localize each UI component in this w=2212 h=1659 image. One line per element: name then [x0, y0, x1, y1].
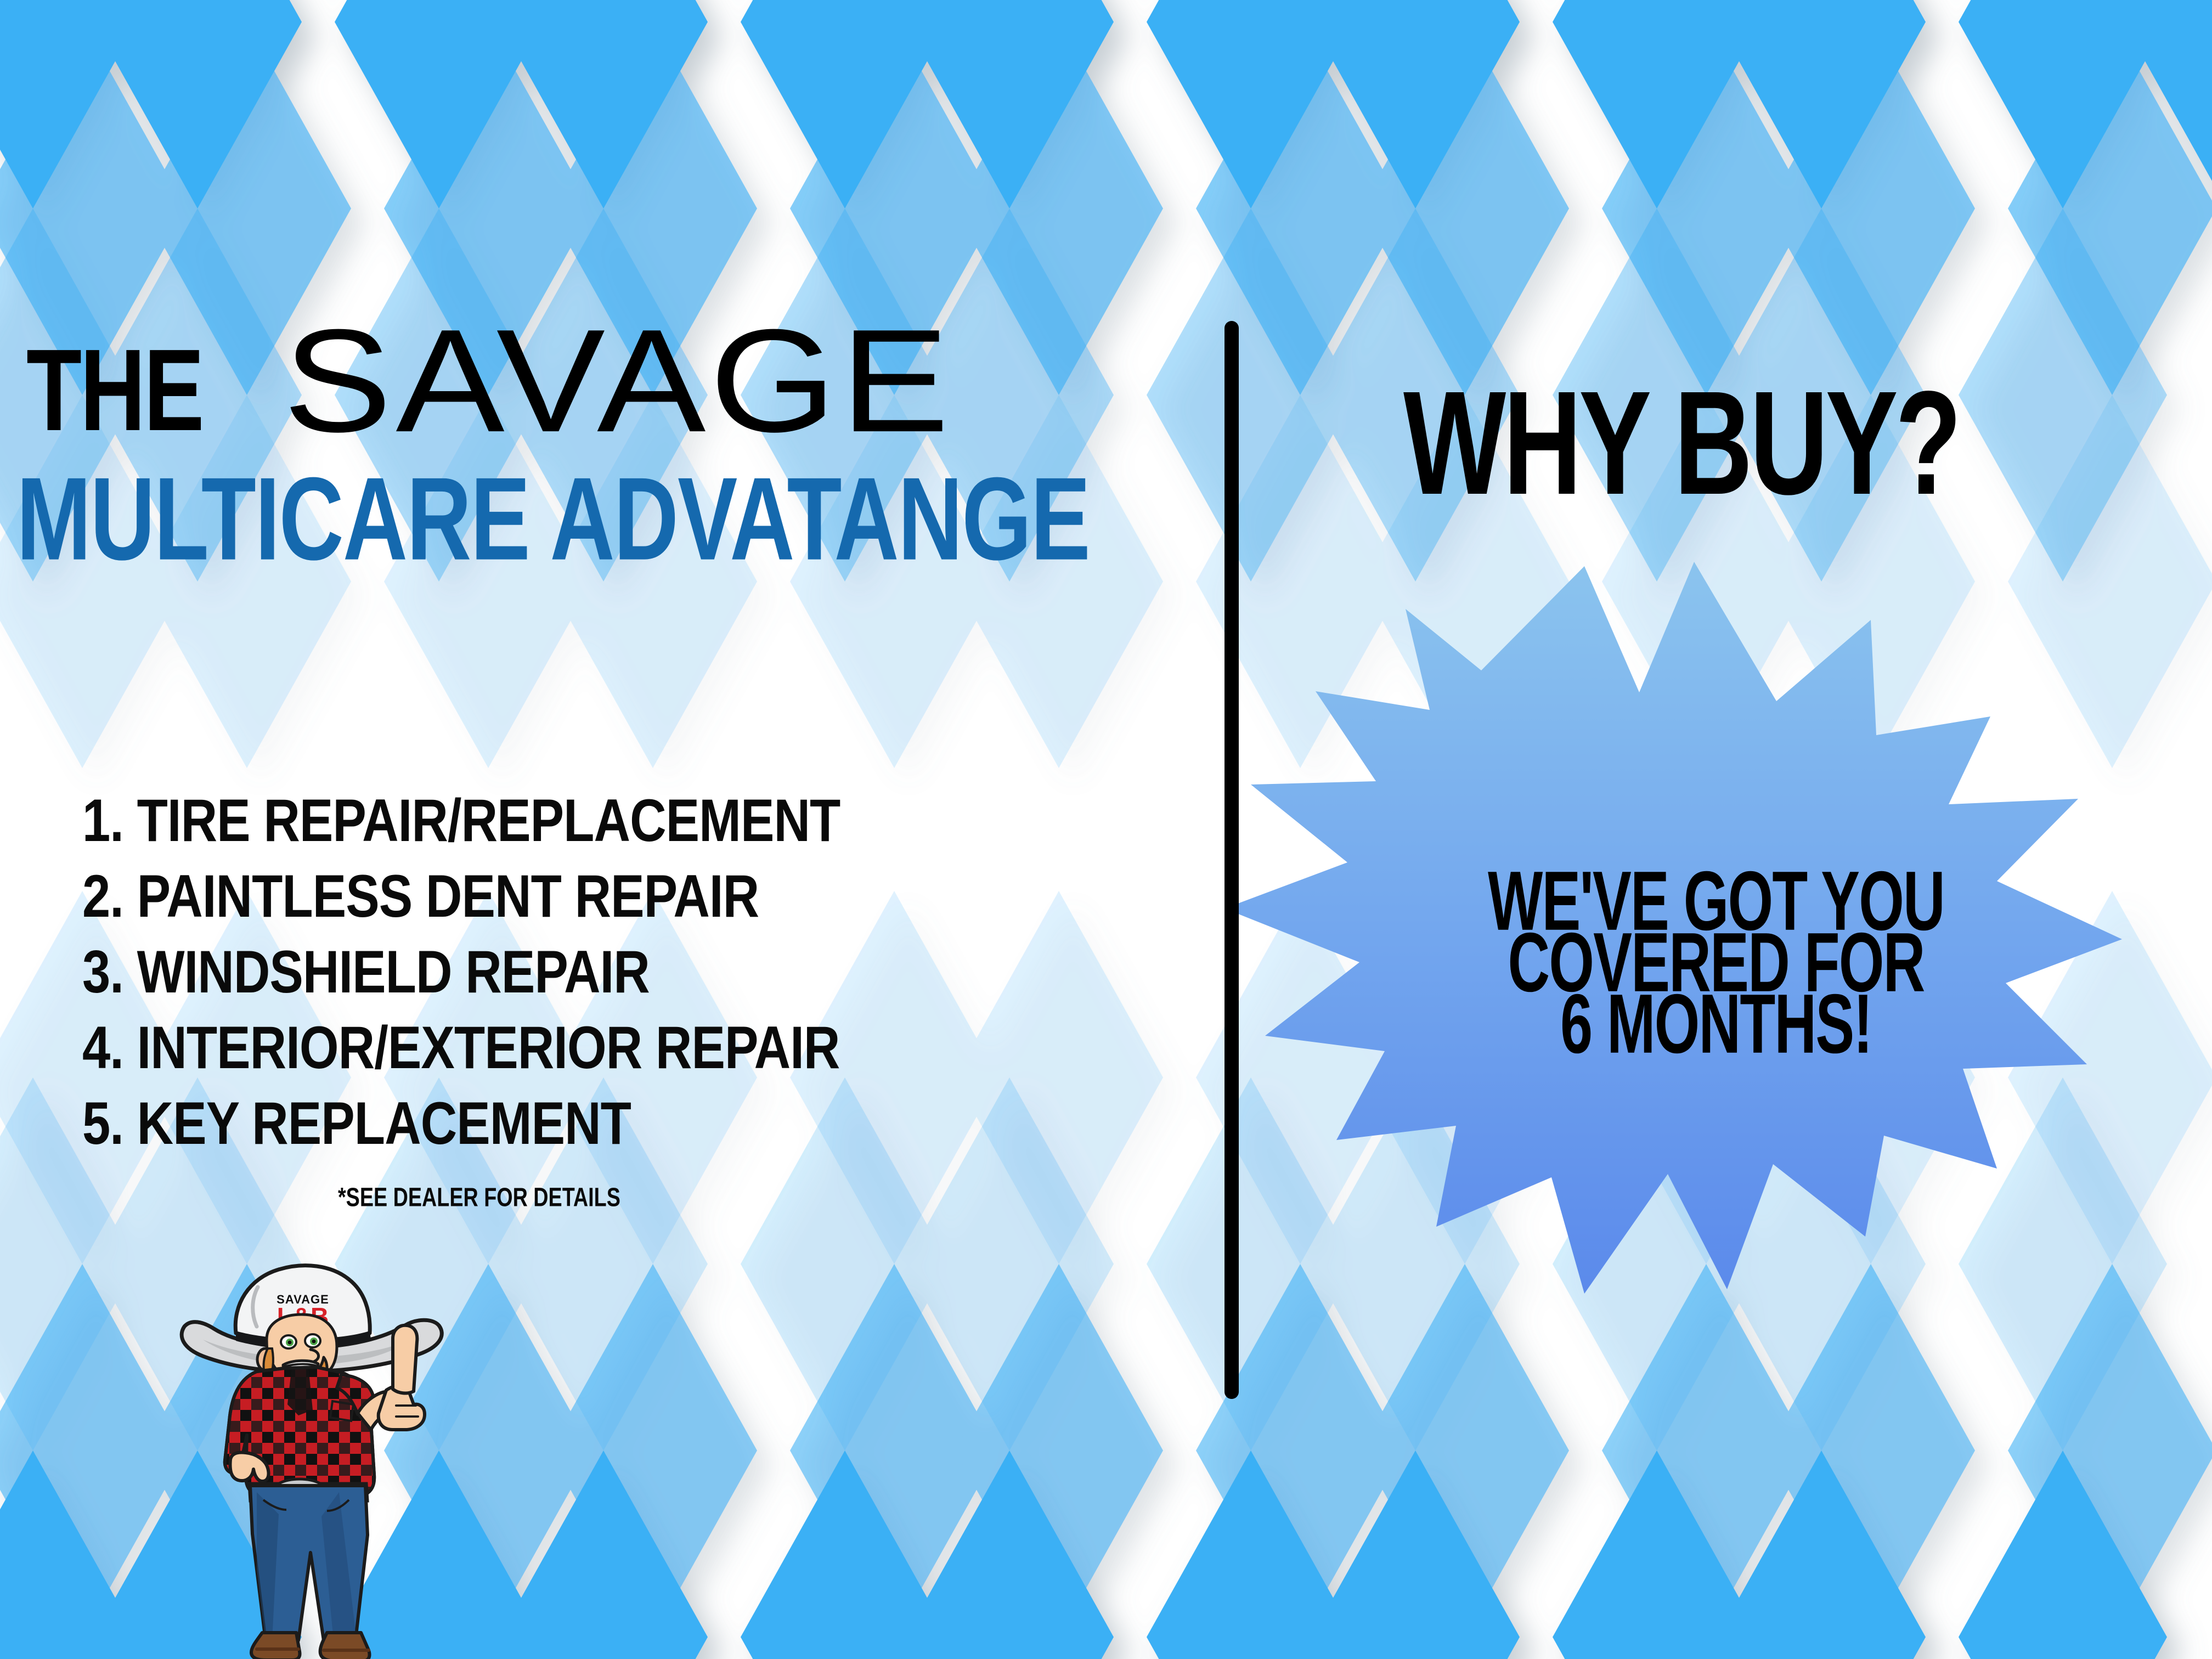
list-item: 3. WINDSHIELD REPAIR — [82, 941, 840, 1002]
why-buy-headline: WHY BUY? — [1403, 379, 1959, 509]
blue-jeans — [250, 1486, 368, 1640]
page-title: THE SAVAGE — [26, 329, 851, 440]
list-item: 2. PAINTLESS DENT REPAIR — [82, 866, 840, 926]
cowboy-mascot-illustration: SAVAGE L&B — [174, 1256, 460, 1659]
list-item: 4. INTERIOR/EXTERIOR REPAIR — [82, 1017, 840, 1077]
list-item: 5. KEY REPLACEMENT — [82, 1093, 840, 1153]
title-the: THE — [26, 341, 202, 439]
right-panel: WHY BUY? WE'VE GOT YOU COVERED FOR 6 MON… — [1239, 0, 2212, 1659]
cowboy-boots — [251, 1633, 370, 1659]
callout-line-3: 6 MONTHS! — [1449, 984, 1983, 1064]
benefits-list: 1. TIRE REPAIR/REPLACEMENT 2. PAINTLESS … — [82, 790, 889, 1169]
title-brand-savage: SAVAGE — [283, 323, 953, 440]
vertical-divider — [1224, 321, 1239, 1399]
disclaimer-text: *SEE DEALER FOR DETAILS — [338, 1182, 620, 1212]
poster-canvas: THE SAVAGE MULTICARE ADVATANGE 1. TIRE R… — [0, 0, 2212, 1659]
title-subtitle-multicare: MULTICARE ADVATANGE — [16, 466, 1090, 572]
coverage-callout-text: WE'VE GOT YOU COVERED FOR 6 MONTHS! — [1420, 861, 2012, 1046]
list-item: 1. TIRE REPAIR/REPLACEMENT — [82, 790, 840, 850]
